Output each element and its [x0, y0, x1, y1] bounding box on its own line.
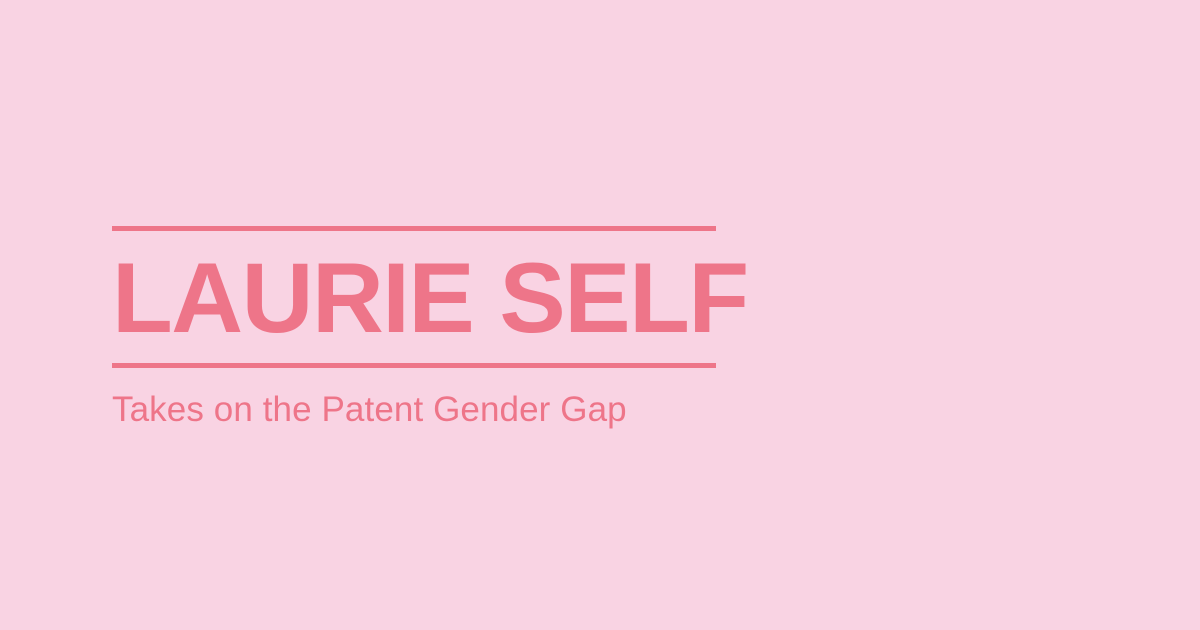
title-row: LAURIE SELF [112, 231, 716, 363]
headline-lockup: LAURIE SELF [112, 226, 716, 368]
bottom-rule-divider [112, 363, 716, 368]
page-subtitle: Takes on the Patent Gender Gap [112, 388, 627, 432]
social-card: LAURIE SELF Takes on the Patent Gender G… [0, 0, 1200, 630]
page-title: LAURIE SELF [112, 248, 748, 347]
